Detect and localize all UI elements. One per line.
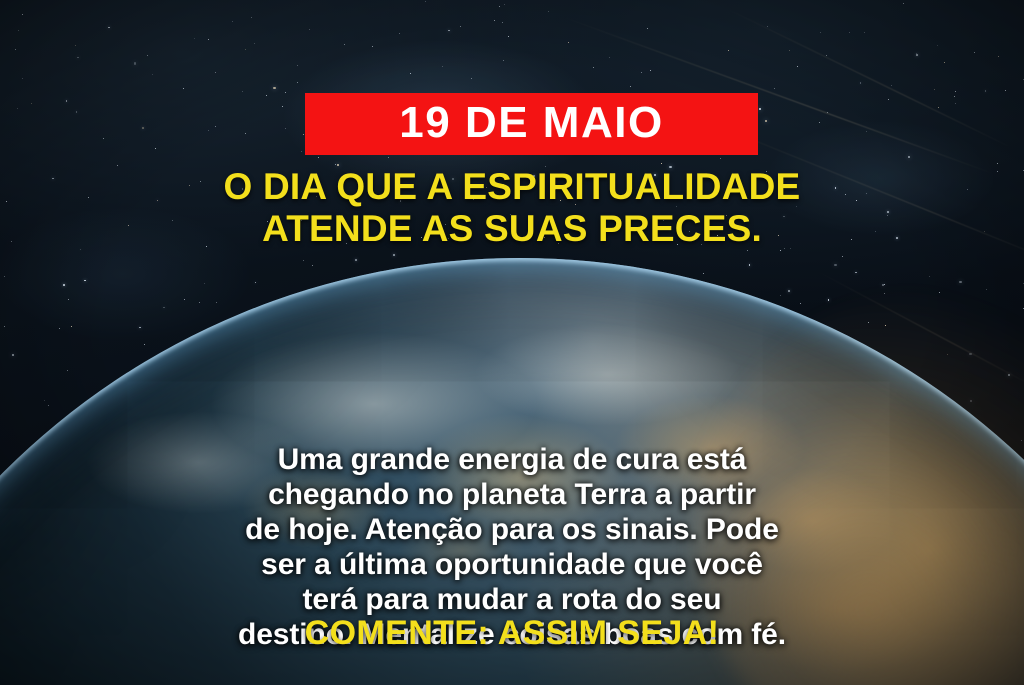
date-banner: 19 DE MAIO bbox=[305, 93, 758, 155]
poster-content: 19 DE MAIO O DIA QUE A ESPIRITUALIDADE A… bbox=[0, 0, 1024, 685]
date-banner-label: 19 DE MAIO bbox=[399, 101, 663, 145]
poster-canvas: 19 DE MAIO O DIA QUE A ESPIRITUALIDADE A… bbox=[0, 0, 1024, 685]
body-copy-line-3: de hoje. Atenção para os sinais. Pode bbox=[0, 513, 1024, 548]
body-copy-line-1: Uma grande energia de cura está bbox=[0, 443, 1024, 478]
headline: O DIA QUE A ESPIRITUALIDADE ATENDE AS SU… bbox=[0, 166, 1024, 250]
headline-line-2: ATENDE AS SUAS PRECES. bbox=[0, 208, 1024, 250]
call-to-action-label: COMENTE: ASSIM SEJA! bbox=[305, 614, 720, 652]
body-copy-line-5: terá para mudar a rota do seu bbox=[0, 583, 1024, 618]
call-to-action: COMENTE: ASSIM SEJA! bbox=[0, 614, 1024, 653]
body-copy-line-4: ser a última oportunidade que você bbox=[0, 548, 1024, 583]
body-copy-line-2: chegando no planeta Terra a partir bbox=[0, 478, 1024, 513]
headline-line-1: O DIA QUE A ESPIRITUALIDADE bbox=[0, 166, 1024, 208]
